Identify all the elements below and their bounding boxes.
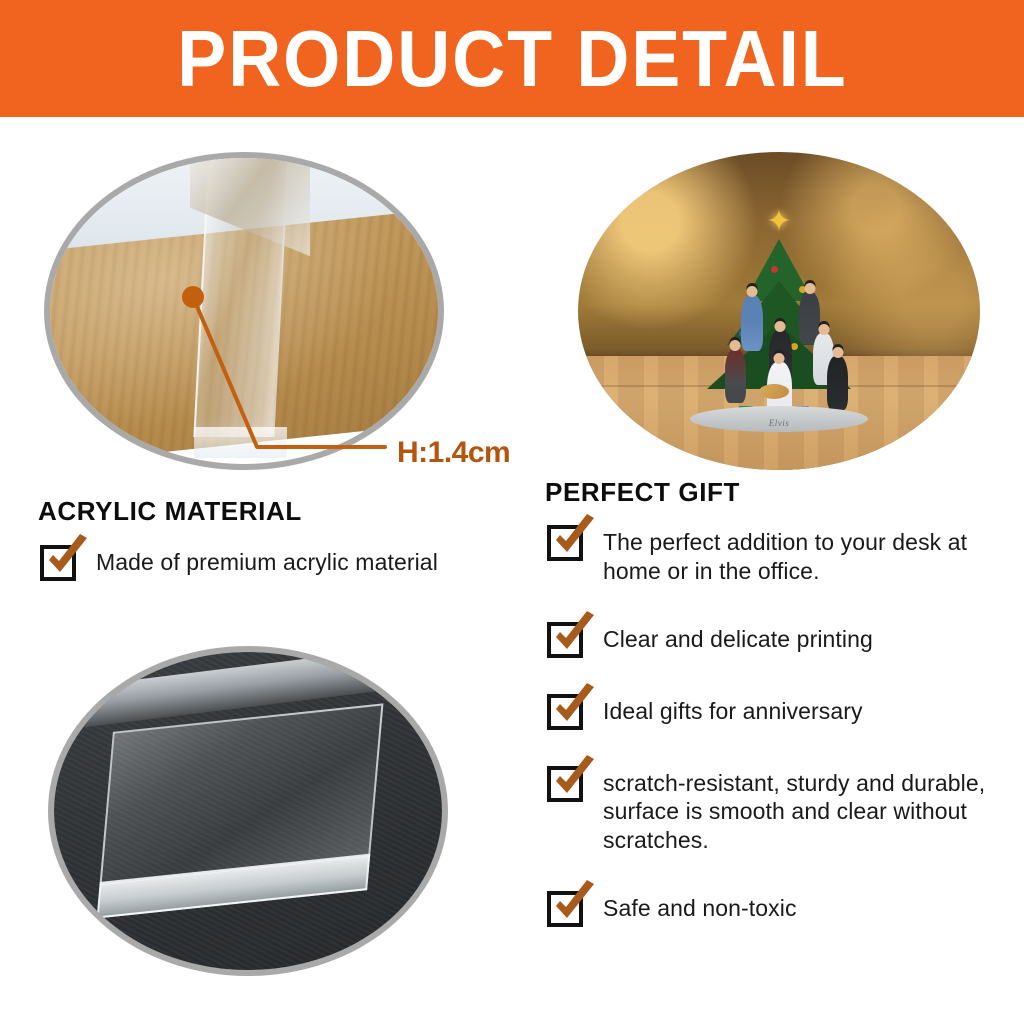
checkbox[interactable] xyxy=(547,622,583,658)
figurine-guitar xyxy=(759,384,789,399)
acrylic-material-checklist: Made of premium acrylic material xyxy=(40,545,510,605)
section-heading-perfect-gift: PERFECT GIFT xyxy=(545,477,740,508)
check-icon xyxy=(549,610,601,662)
list-item: Made of premium acrylic material xyxy=(40,545,510,581)
checkbox[interactable] xyxy=(547,891,583,927)
section-heading-acrylic-material: ACRYLIC MATERIAL xyxy=(38,496,302,527)
check-icon xyxy=(549,754,601,806)
height-measurement-label: H:1.4cm xyxy=(397,436,510,470)
list-item: Clear and delicate printing xyxy=(547,622,1002,658)
acrylic-edge-photo xyxy=(44,152,444,470)
product-detail-page: PRODUCT DETAIL ✦ xyxy=(0,0,1024,1024)
acrylic-slab-foot xyxy=(194,427,287,458)
check-icon xyxy=(549,513,601,565)
figurine-base-signature: Elvis xyxy=(769,418,790,428)
list-item: Ideal gifts for anniversary xyxy=(547,694,1002,730)
figurine-head xyxy=(832,347,843,358)
figurine-head xyxy=(746,286,757,297)
product-figurine-photo: ✦ xyxy=(578,152,980,470)
list-item: scratch-resistant, sturdy and durable, s… xyxy=(547,766,1002,855)
list-item-label: scratch-resistant, sturdy and durable, s… xyxy=(603,766,1002,855)
list-item-label: Made of premium acrylic material xyxy=(96,545,438,577)
tree-star-topper: ✦ xyxy=(766,207,791,237)
checkbox[interactable] xyxy=(40,545,76,581)
ornament-bauble xyxy=(791,343,798,350)
acrylic-block-graphic xyxy=(97,703,383,919)
figurine-head xyxy=(730,340,741,351)
figurine-head xyxy=(818,324,829,335)
figurine-head xyxy=(804,283,815,294)
list-item: Safe and non-toxic xyxy=(547,891,1002,927)
figurine-maroon-jacket-left xyxy=(725,349,746,403)
list-item-label: Ideal gifts for anniversary xyxy=(603,694,863,726)
list-item-label: Safe and non-toxic xyxy=(603,891,797,923)
list-item-label: The perfect addition to your desk at hom… xyxy=(603,525,1002,586)
checkbox[interactable] xyxy=(547,525,583,561)
checkbox[interactable] xyxy=(547,694,583,730)
callout-anchor-dot xyxy=(182,286,204,308)
page-header-banner: PRODUCT DETAIL xyxy=(0,0,1024,117)
list-item-label: Clear and delicate printing xyxy=(603,622,873,654)
figurine-head xyxy=(774,353,785,364)
acrylic-block-photo xyxy=(48,646,448,976)
figurine-head xyxy=(775,321,786,332)
list-item: The perfect addition to your desk at hom… xyxy=(547,525,1002,586)
figurine-black-suit-right xyxy=(827,356,848,410)
page-title: PRODUCT DETAIL xyxy=(177,19,847,99)
figurine-blue-denim xyxy=(741,295,763,351)
checkbox[interactable] xyxy=(547,766,583,802)
perfect-gift-checklist: The perfect addition to your desk at hom… xyxy=(547,525,1002,963)
check-icon xyxy=(549,879,601,931)
check-icon xyxy=(549,682,601,734)
check-icon xyxy=(42,533,94,585)
